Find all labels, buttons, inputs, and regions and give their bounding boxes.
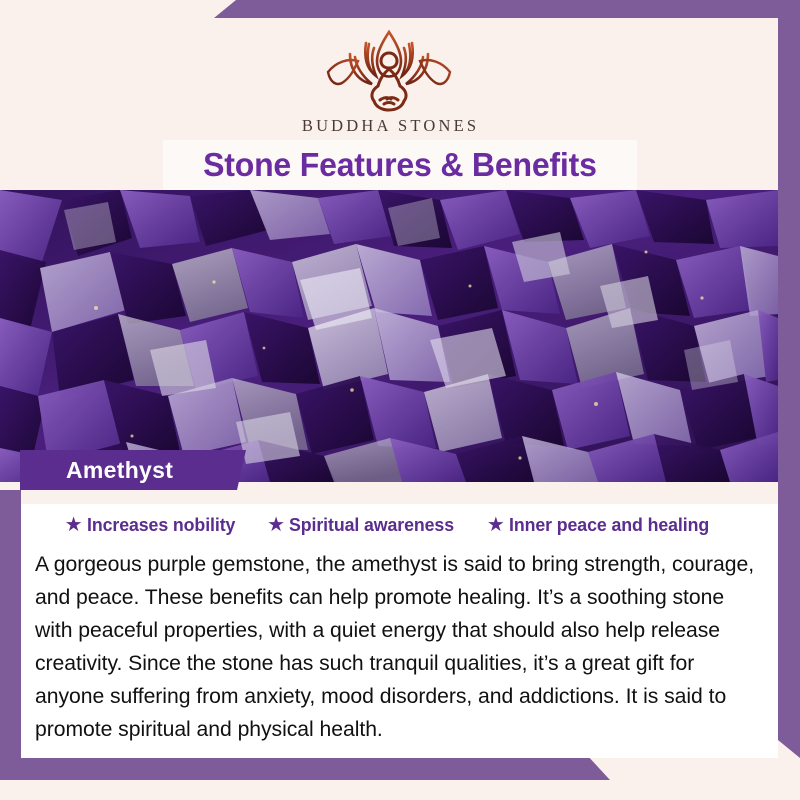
star-icon: ★ — [65, 515, 83, 535]
stone-name-label: Amethyst — [66, 457, 173, 484]
benefits-row: ★ Increases nobility ★ Spiritual awarene… — [21, 514, 761, 536]
benefit-item: ★ Increases nobility — [65, 514, 241, 536]
hero-image — [0, 190, 778, 482]
star-icon: ★ — [487, 515, 505, 535]
decorative-top-band — [214, 0, 800, 18]
lotus-meditation-icon — [314, 26, 464, 114]
decorative-right-strip-upper — [778, 18, 800, 490]
stone-name-badge: Amethyst — [20, 450, 246, 490]
content-panel: ★ Increases nobility ★ Spiritual awarene… — [21, 490, 778, 758]
benefit-item: ★ Inner peace and healing — [487, 514, 717, 536]
decorative-right-strip-lower — [778, 490, 800, 758]
benefit-label: Inner peace and healing — [509, 514, 709, 536]
benefit-label: Spiritual awareness — [289, 514, 454, 536]
content-top-divider — [21, 490, 778, 504]
title-panel: Stone Features & Benefits — [163, 140, 637, 190]
infographic-page: BUDDHA STONES Stone Features & Benefits — [0, 0, 800, 800]
page-title: Stone Features & Benefits — [203, 146, 597, 184]
amethyst-crystal-illustration — [0, 190, 778, 482]
benefit-item: ★ Spiritual awareness — [267, 514, 461, 536]
decorative-left-strip — [0, 490, 21, 778]
brand-wordmark: BUDDHA STONES — [299, 116, 480, 136]
star-icon: ★ — [267, 515, 285, 535]
benefit-label: Increases nobility — [87, 514, 235, 536]
description-paragraph: A gorgeous purple gemstone, the amethyst… — [35, 548, 759, 746]
brand-logo: BUDDHA STONES — [299, 26, 480, 136]
